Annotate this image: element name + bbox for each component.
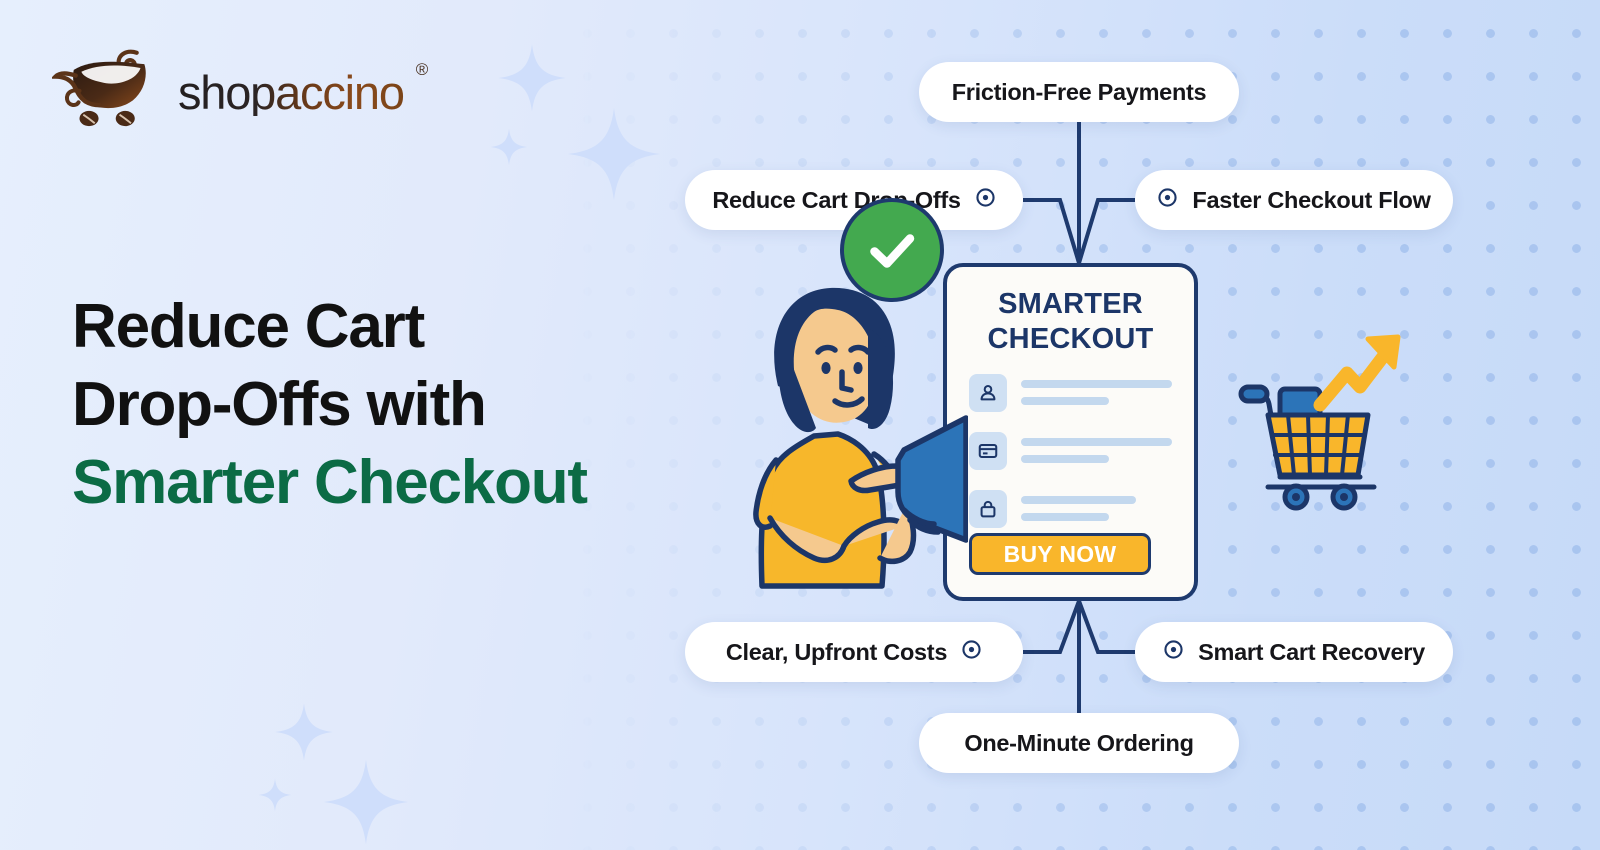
placeholder-lines (1021, 438, 1172, 463)
placeholder-lines (1021, 496, 1172, 521)
shopping-cart-with-rising-arrow-illustration-icon (1208, 325, 1408, 525)
pill-label: Smart Cart Recovery (1198, 639, 1425, 666)
pill-smart-cart-recovery[interactable]: Smart Cart Recovery (1135, 622, 1453, 682)
brand-logo[interactable]: shopaccino ® (52, 47, 426, 129)
placeholder-lines (1021, 380, 1172, 405)
headline-line-1: Reduce Cart (72, 288, 587, 366)
pill-clear-upfront-costs[interactable]: Clear, Upfront Costs (685, 622, 1023, 682)
pill-label: Clear, Upfront Costs (726, 639, 947, 666)
card-title: SMARTER CHECKOUT (947, 267, 1194, 358)
sparkle-icon (258, 778, 292, 812)
card-row-secure (969, 490, 1172, 528)
page-title: Reduce Cart Drop-Offs with Smarter Check… (72, 288, 587, 522)
buy-now-button[interactable]: BUY NOW (969, 533, 1151, 575)
person-holding-tablet-illustration-icon (718, 268, 968, 590)
target-icon (1157, 187, 1178, 214)
sparkle-icon (497, 43, 567, 113)
pill-label: Faster Checkout Flow (1192, 187, 1430, 214)
sparkle-icon (490, 128, 528, 166)
coffee-cup-cart-logo-icon (52, 47, 168, 129)
card-title-line-1: SMARTER (957, 287, 1184, 322)
target-icon (1163, 639, 1184, 666)
checkout-card: SMARTER CHECKOUT (943, 263, 1198, 601)
lock-icon (969, 490, 1007, 528)
pill-faster-checkout-flow[interactable]: Faster Checkout Flow (1135, 170, 1453, 230)
headline-line-3-accent: Smarter Checkout (72, 444, 587, 522)
user-icon (969, 374, 1007, 412)
green-check-badge-icon (840, 198, 944, 302)
pill-one-minute-ordering[interactable]: One-Minute Ordering (919, 713, 1239, 773)
card-row-user (969, 374, 1172, 412)
headline-line-2: Drop-Offs with (72, 366, 587, 444)
sparkle-icon (566, 106, 662, 202)
registered-trademark-icon: ® (416, 60, 429, 80)
card-title-line-2: CHECKOUT (957, 322, 1184, 357)
pill-label: One-Minute Ordering (964, 730, 1193, 757)
card-field-rows (947, 358, 1194, 528)
brand-wordmark: shopaccino (178, 69, 404, 116)
banner-background: shopaccino ® Reduce Cart Drop-Offs with … (0, 0, 1600, 850)
target-icon (961, 639, 982, 666)
sparkle-icon (322, 758, 410, 846)
credit-card-icon (969, 432, 1007, 470)
target-icon (975, 187, 996, 214)
card-row-payment (969, 432, 1172, 470)
sparkle-icon (274, 702, 334, 762)
pill-friction-free-payments[interactable]: Friction-Free Payments (919, 62, 1239, 122)
checkout-benefits-diagram: Friction-Free Payments Reduce Cart Drop-… (660, 0, 1600, 850)
pill-label: Friction-Free Payments (952, 79, 1207, 106)
